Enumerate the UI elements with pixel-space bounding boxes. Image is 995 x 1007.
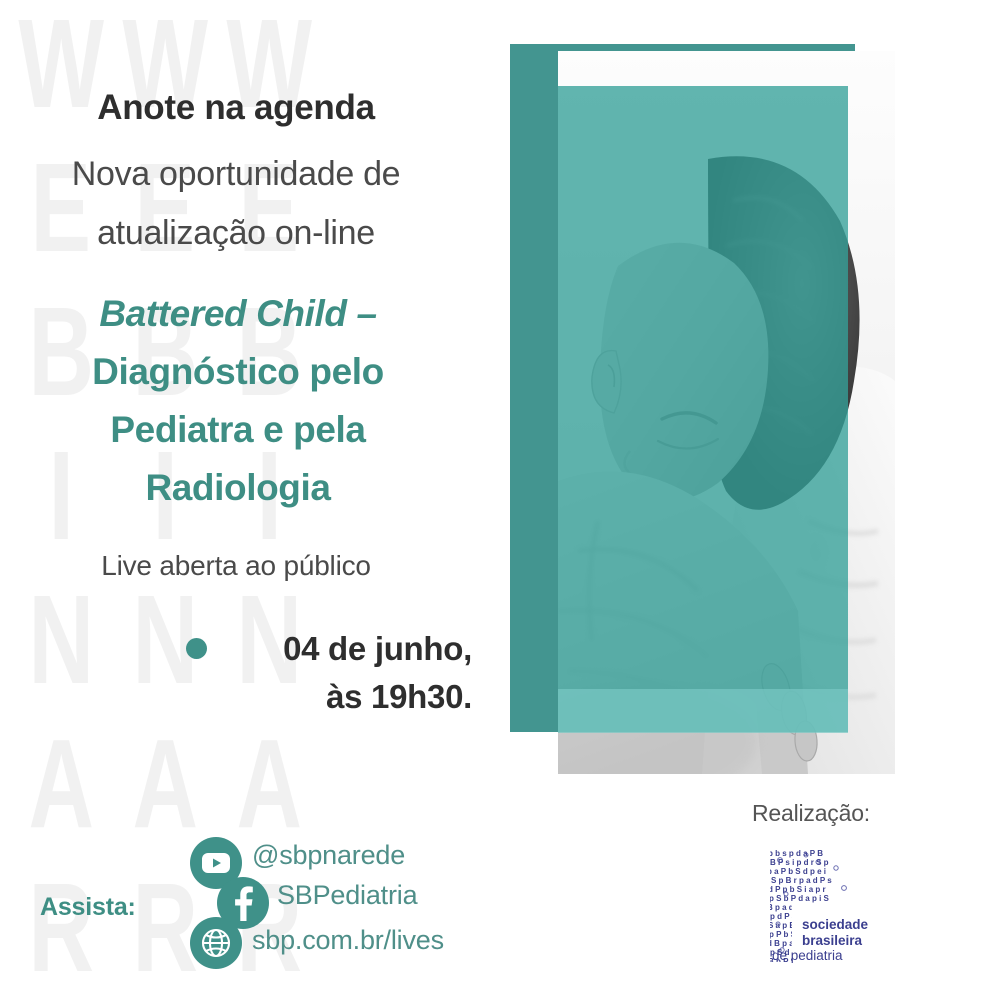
webinar-title: Battered Child – Diagnóstico pelo Pediat… [0,285,476,517]
website-url[interactable]: sbp.com.br/lives [252,925,444,956]
facebook-handle[interactable]: SBPediatria [277,880,417,911]
watermark-letter: A [236,712,300,856]
svg-text:p a P b S d p e i: p a P b S d p e i [767,867,826,876]
globe-glyph [200,927,232,959]
svg-text:d P p b S i a p r: d P p b S i a p r [768,885,826,894]
watermark-letter: R [28,856,92,1000]
svg-text:S p B r p a d P s: S p B r p a d P s [771,876,832,885]
teal-photo-overlay-footer [558,689,848,733]
svg-text:B p a d S P b p r: B p a d S P b p r [767,903,828,912]
open-live-note: Live aberta ao público [0,550,472,582]
title-line-4: Radiologia [0,459,476,517]
event-date-line-2: às 19h30. [0,673,472,721]
subtitle-line-2: atualização on-line [0,204,472,263]
sbp-logo-line-3: de pediatria [772,948,843,964]
sbp-logo-line-1: sociedade [802,917,868,933]
facebook-glyph [231,885,255,921]
sbp-logo-text: sociedade brasileira de pediatria [802,917,868,948]
watermark-letter: R [132,856,196,1000]
subtitle-line-1: Nova oportunidade de [0,145,472,204]
event-date-line-1: 04 de junho, [0,625,472,673]
youtube-handle[interactable]: @sbpnarede [252,840,405,871]
sbp-logo: p b s p d a P B B P s i p d r S p p a P … [766,846,886,971]
svg-text:p S b P d a p i S: p S b P d a p i S [769,894,830,903]
title-line-1: Battered Child – [0,285,476,343]
globe-icon[interactable] [190,917,242,969]
teal-photo-overlay [558,86,848,732]
youtube-glyph [201,852,231,874]
organizer-label: Realização: [752,800,870,827]
watermark-letter: A [132,712,196,856]
hero-photo-block [510,44,895,774]
event-date: 04 de junho, às 19h30. [0,625,472,721]
poster-canvas: W E B I N A R W E B I N A R W E B I N A … [0,0,995,1007]
kicker-heading: Anote na agenda [0,88,472,128]
sbp-logo-line-2: brasileira [802,933,868,949]
watch-label: Assista: [40,893,136,922]
title-line-2: Diagnóstico pelo [0,343,476,401]
svg-text:p b s p d a P B: p b s p d a P B [768,849,823,858]
frame-left-bar [510,44,558,732]
watermark-letter: A [28,712,92,856]
title-line-3: Pediatra e pela [0,401,476,459]
subtitle: Nova oportunidade de atualização on-line [0,145,472,263]
